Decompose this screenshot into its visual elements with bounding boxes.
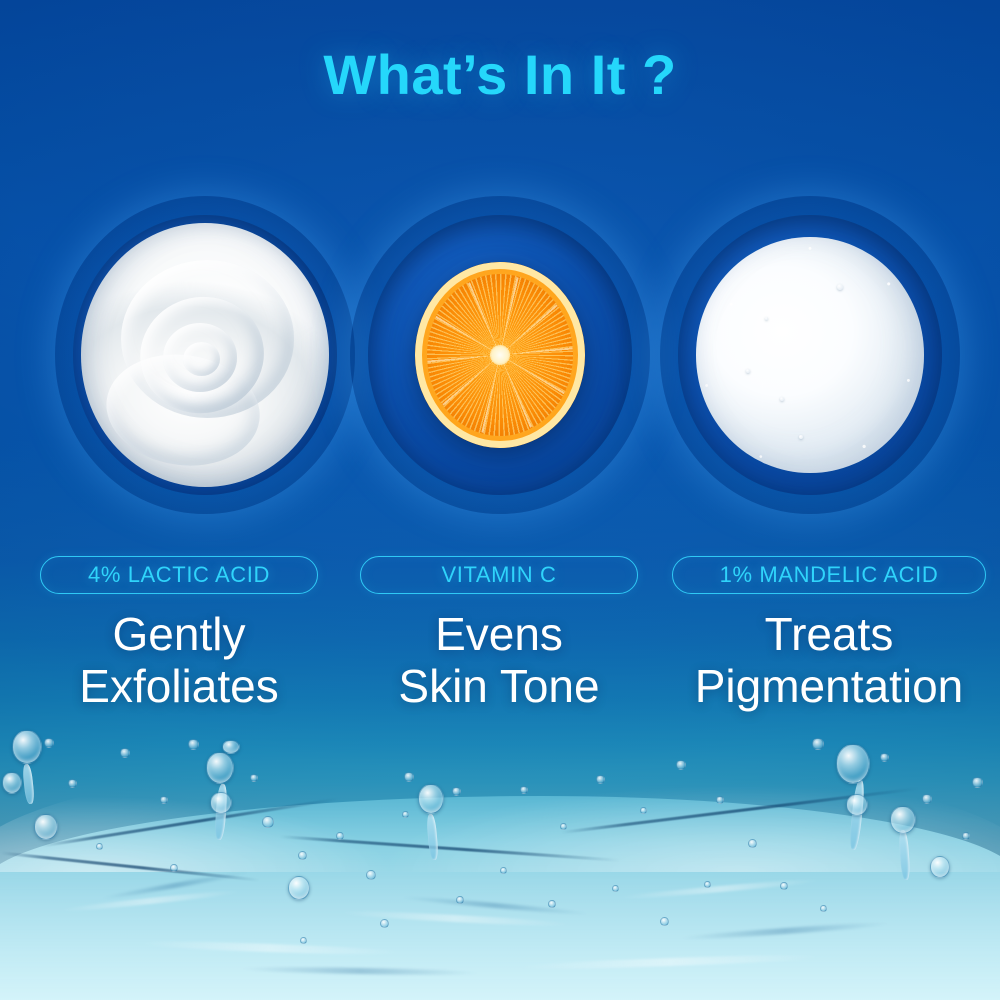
benefit-lactic-acid: Gently Exfoliates (40, 608, 318, 712)
glass-rim (660, 196, 960, 514)
badge-vitamin-c: VITAMIN C (360, 556, 638, 594)
benefit-line-1: Gently (113, 608, 246, 660)
benefit-line-2: Pigmentation (672, 660, 986, 712)
benefit-line-2: Exfoliates (40, 660, 318, 712)
benefit-vitamin-c: Evens Skin Tone (360, 608, 638, 712)
glass-rim (55, 196, 355, 514)
bowl-lactic-acid (55, 196, 355, 514)
benefit-line-1: Treats (765, 608, 894, 660)
ingredient-badges-row: 4% LACTIC ACID VITAMIN C 1% MANDELIC ACI… (0, 556, 1000, 596)
page-title: What’s In It ? (0, 42, 1000, 107)
benefit-captions-row: Gently Exfoliates Evens Skin Tone Treats… (0, 608, 1000, 718)
badge-mandelic-acid: 1% MANDELIC ACID (672, 556, 986, 594)
benefit-mandelic-acid: Treats Pigmentation (672, 608, 986, 712)
bowl-mandelic-acid (660, 196, 960, 514)
benefit-line-2: Skin Tone (360, 660, 638, 712)
product-infographic: What’s In It ? (0, 0, 1000, 1000)
badge-lactic-acid: 4% LACTIC ACID (40, 556, 318, 594)
glass-rim (350, 196, 650, 514)
ingredient-bowls-row (0, 196, 1000, 526)
benefit-line-1: Evens (435, 608, 563, 660)
bowl-vitamin-c (350, 196, 650, 514)
